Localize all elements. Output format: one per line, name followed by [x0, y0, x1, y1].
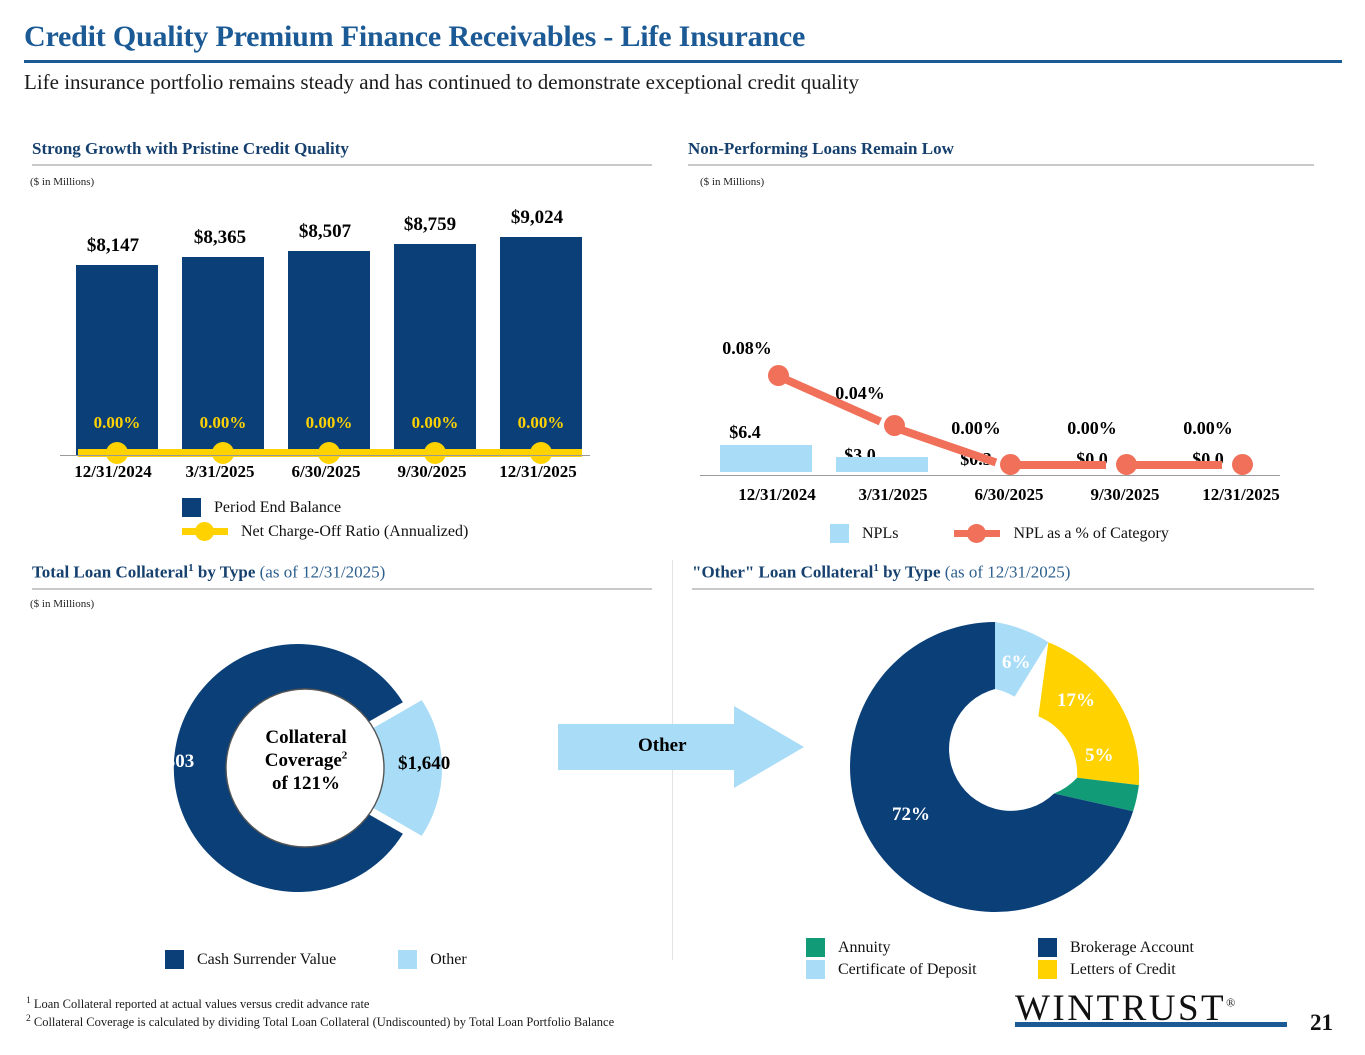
- legend-swatch-icon: [806, 938, 825, 957]
- panel-title-mid: by Type: [879, 563, 945, 582]
- legend-swatch-icon: [182, 498, 201, 517]
- x-tick-label: 3/31/2025: [828, 485, 958, 505]
- npl-marker: [884, 415, 905, 436]
- legend-growth: Period End Balance Net Charge-Off Ratio …: [182, 498, 468, 546]
- legend-item-period-end-balance[interactable]: Period End Balance: [182, 498, 468, 517]
- panel-rule-npl: [688, 164, 1314, 166]
- legend-row-total-collateral: Cash Surrender Value Other: [165, 950, 467, 969]
- legend-line-marker-icon: [182, 522, 228, 541]
- legend-row-2: Certificate of Deposit Letters of Credit: [806, 960, 1194, 979]
- npl-value-label: $6.4: [680, 422, 810, 443]
- nco-marker: [212, 442, 234, 464]
- legend-label: Other: [430, 951, 466, 969]
- panel-rule-total-collateral: [32, 588, 652, 590]
- donut-label-certificate-of-deposit: 6%: [1002, 652, 1031, 674]
- legend-swatch-icon: [165, 950, 184, 969]
- npl-bar-12-31-2024: [720, 445, 812, 472]
- center-line-1: Collateral: [228, 726, 384, 749]
- nco-marker: [106, 442, 128, 464]
- bar-value-label: $9,024: [472, 207, 602, 229]
- legend-npl: NPLs NPL as a % of Category: [830, 524, 1169, 543]
- legend-swatch-icon: [806, 960, 825, 979]
- legend-label: Certificate of Deposit: [838, 961, 1038, 979]
- panel-title-total-collateral: Total Loan Collateral1 by Type (as of 12…: [32, 562, 652, 583]
- donut-center-text: Collateral Coverage2 of 121%: [228, 726, 384, 796]
- legend-label: Net Charge-Off Ratio (Annualized): [241, 523, 468, 541]
- legend-other-collateral: Annuity Brokerage Account Certificate of…: [806, 938, 1194, 979]
- legend-label: Brokerage Account: [1070, 939, 1194, 957]
- panel-title-main: Total Loan Collateral: [32, 563, 188, 582]
- panel-title-mid: by Type: [194, 563, 260, 582]
- legend-swatch-icon: [1038, 938, 1057, 957]
- nco-marker: [424, 442, 446, 464]
- footnote-1: 1 Loan Collateral reported at actual val…: [26, 996, 369, 1012]
- nco-value-label: 0.00%: [476, 413, 606, 433]
- panel-title-main: "Other" Loan Collateral: [692, 563, 873, 582]
- legend-label: Period End Balance: [214, 499, 341, 517]
- npl-pct-label: 0.00%: [1027, 418, 1157, 439]
- x-tick-label: 6/30/2025: [944, 485, 1074, 505]
- panel-title-other-collateral: "Other" Loan Collateral1 by Type (as of …: [692, 562, 1314, 583]
- donut-label-annuity: 5%: [1085, 745, 1114, 767]
- nco-marker: [530, 442, 552, 464]
- wintrust-logo: WINTRUST®: [1015, 990, 1295, 1027]
- legend-swatch-icon: [398, 950, 417, 969]
- donut-slices: [850, 622, 1139, 912]
- donut-label-letters-of-credit: 17%: [1057, 690, 1095, 712]
- x-tick-label: 12/31/2025: [473, 462, 603, 482]
- legend-row-npl: NPLs NPL as a % of Category: [830, 524, 1169, 543]
- legend-label: NPL as a % of Category: [1013, 525, 1168, 543]
- panel-title-asof: (as of 12/31/2025): [260, 563, 386, 582]
- slide-root: Credit Quality Premium Finance Receivabl…: [0, 0, 1365, 1055]
- panel-header-other-collateral: "Other" Loan Collateral1 by Type (as of …: [692, 562, 1314, 590]
- npl-pct-label: 0.08%: [682, 338, 812, 359]
- center-line-2: Coverage2: [228, 749, 384, 772]
- legend-label: Cash Surrender Value: [197, 951, 336, 969]
- panel-rule-growth: [32, 164, 652, 166]
- npl-line-segment: [1006, 461, 1106, 469]
- center-line-3: of 121%: [228, 772, 384, 795]
- legend-row-1: Annuity Brokerage Account: [806, 938, 1194, 957]
- page-title: Credit Quality Premium Finance Receivabl…: [24, 20, 1344, 54]
- donut-svg-other-collateral: [845, 612, 1145, 922]
- arrow-label: Other: [638, 735, 687, 757]
- x-axis-line: [700, 475, 1280, 476]
- chart-period-end-balance: $8,147 $8,365 $8,507 $8,759 $9,024 0.00%…: [60, 210, 600, 455]
- chart-total-loan-collateral: $9,303 $1,640 Collateral Coverage2 of 12…: [130, 608, 480, 928]
- panel-title-npl: Non-Performing Loans Remain Low: [688, 139, 1314, 159]
- npl-marker: [1232, 454, 1253, 475]
- donut-label-other: $1,640: [398, 753, 450, 775]
- donut-label-cash-surrender-value: $9,303: [142, 751, 194, 773]
- page-number: 21: [1310, 1010, 1333, 1036]
- npl-line-segment: [1122, 461, 1222, 469]
- chart-non-performing-loans: 0.08% 0.04% 0.00% 0.00% 0.00% $6.4 $3.0 …: [700, 330, 1300, 475]
- units-label-growth: ($ in Millions): [30, 176, 94, 188]
- legend-label: Letters of Credit: [1070, 961, 1176, 979]
- npl-marker: [1000, 454, 1021, 475]
- panel-header-npl: Non-Performing Loans Remain Low: [688, 139, 1314, 166]
- npl-bar-3-31-2025: [836, 457, 928, 472]
- legend-label: NPLs: [862, 525, 898, 543]
- units-label-total-collateral: ($ in Millions): [30, 598, 94, 610]
- panel-header-growth: Strong Growth with Pristine Credit Quali…: [32, 139, 652, 166]
- x-tick-label: 12/31/2024: [712, 485, 842, 505]
- x-axis-line: [60, 455, 590, 456]
- npl-pct-label: 0.00%: [1143, 418, 1273, 439]
- legend-total-collateral: Cash Surrender Value Other: [165, 950, 467, 969]
- units-label-npl: ($ in Millions): [700, 176, 764, 188]
- panel-header-total-collateral: Total Loan Collateral1 by Type (as of 12…: [32, 562, 652, 590]
- page-subtitle: Life insurance portfolio remains steady …: [24, 70, 859, 95]
- legend-item-net-charge-off-ratio[interactable]: Net Charge-Off Ratio (Annualized): [182, 522, 468, 541]
- npl-marker: [768, 365, 789, 386]
- legend-swatch-icon: [1038, 960, 1057, 979]
- panel-rule-other-collateral: [692, 588, 1314, 590]
- panel-title-growth: Strong Growth with Pristine Credit Quali…: [32, 139, 652, 159]
- nco-marker: [318, 442, 340, 464]
- title-divider: [24, 60, 1342, 63]
- chart-other-loan-collateral: 6% 17% 5% 72%: [845, 612, 1145, 922]
- logo-underline: [1015, 1022, 1287, 1027]
- legend-label: Annuity: [838, 939, 1038, 957]
- legend-line-marker-icon: [954, 524, 1000, 543]
- donut-label-brokerage-account: 72%: [892, 804, 930, 826]
- footnote-2: 2 Collateral Coverage is calculated by d…: [26, 1014, 614, 1030]
- legend-swatch-icon: [830, 524, 849, 543]
- npl-marker: [1116, 454, 1137, 475]
- x-tick-label: 9/30/2025: [1060, 485, 1190, 505]
- x-tick-label: 12/31/2025: [1176, 485, 1306, 505]
- panel-title-asof: (as of 12/31/2025): [945, 563, 1071, 582]
- other-flow-arrow: Other: [558, 706, 804, 788]
